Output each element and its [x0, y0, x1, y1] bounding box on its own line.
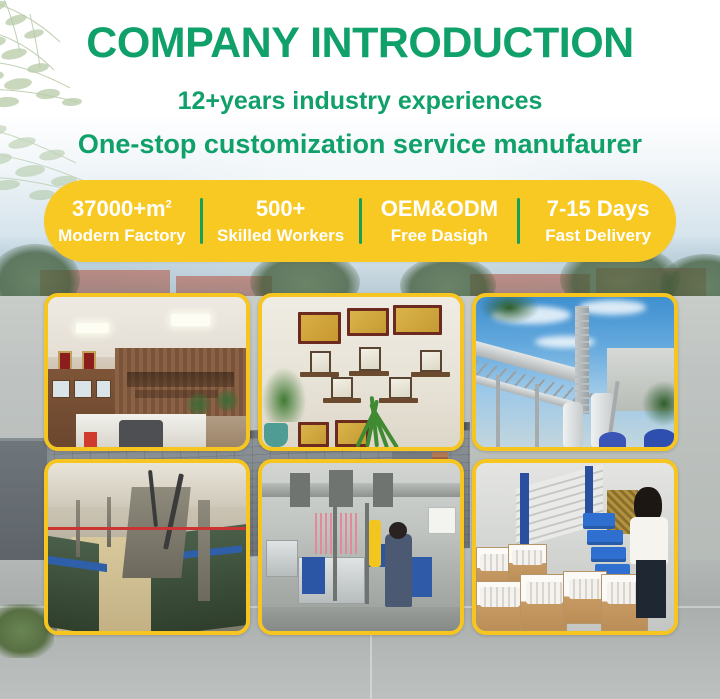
plating-line-photo [48, 463, 246, 631]
wall-pillar-left [0, 438, 50, 566]
packing-area-photo [476, 463, 674, 631]
subtitle-experience: 12+years industry experiences [0, 87, 720, 116]
stat-value-oem-odm: OEM&ODM [364, 197, 516, 220]
photo-card-certificate-wall[interactable] [258, 293, 464, 451]
office-reception-photo [48, 297, 246, 447]
stat-oem-odm: OEM&ODM Free Dasigh [362, 197, 518, 246]
stat-skilled-workers: 500+ Skilled Workers [203, 197, 359, 246]
photo-card-packing-area[interactable] [472, 459, 678, 635]
stat-delivery-time: 7-15 Days Fast Delivery [520, 197, 676, 246]
stat-label-fast-delivery: Fast Delivery [522, 226, 674, 246]
page-title: COMPANY INTRODUCTION [0, 22, 720, 65]
stats-bar: 37000+m2 Modern Factory 500+ Skilled Wor… [44, 180, 676, 262]
stat-modern-factory: 37000+m2 Modern Factory [44, 197, 200, 246]
stat-value-area: 37000+m2 [46, 197, 198, 220]
photo-card-factory-exterior[interactable] [472, 293, 678, 451]
photo-card-office-reception[interactable] [44, 293, 250, 451]
header-block: COMPANY INTRODUCTION 12+years industry e… [0, 0, 720, 160]
stat-value-delivery-days: 7-15 Days [522, 197, 674, 220]
certificate-wall-photo [262, 297, 460, 447]
stat-value-workers: 500+ [205, 197, 357, 220]
stat-label-skilled-workers: Skilled Workers [205, 226, 357, 246]
subtitle-service: One-stop customization service manufaure… [0, 129, 720, 160]
photo-card-plating-line[interactable] [44, 459, 250, 635]
factory-exterior-photo [476, 297, 674, 447]
photo-card-worker-plating[interactable] [258, 459, 464, 635]
company-introduction-banner: COMPANY INTRODUCTION 12+years industry e… [0, 0, 720, 699]
stat-label-free-design: Free Dasigh [364, 226, 516, 246]
worker-plating-photo [262, 463, 460, 631]
stat-label-modern-factory: Modern Factory [46, 226, 198, 246]
photo-gallery [44, 293, 680, 635]
